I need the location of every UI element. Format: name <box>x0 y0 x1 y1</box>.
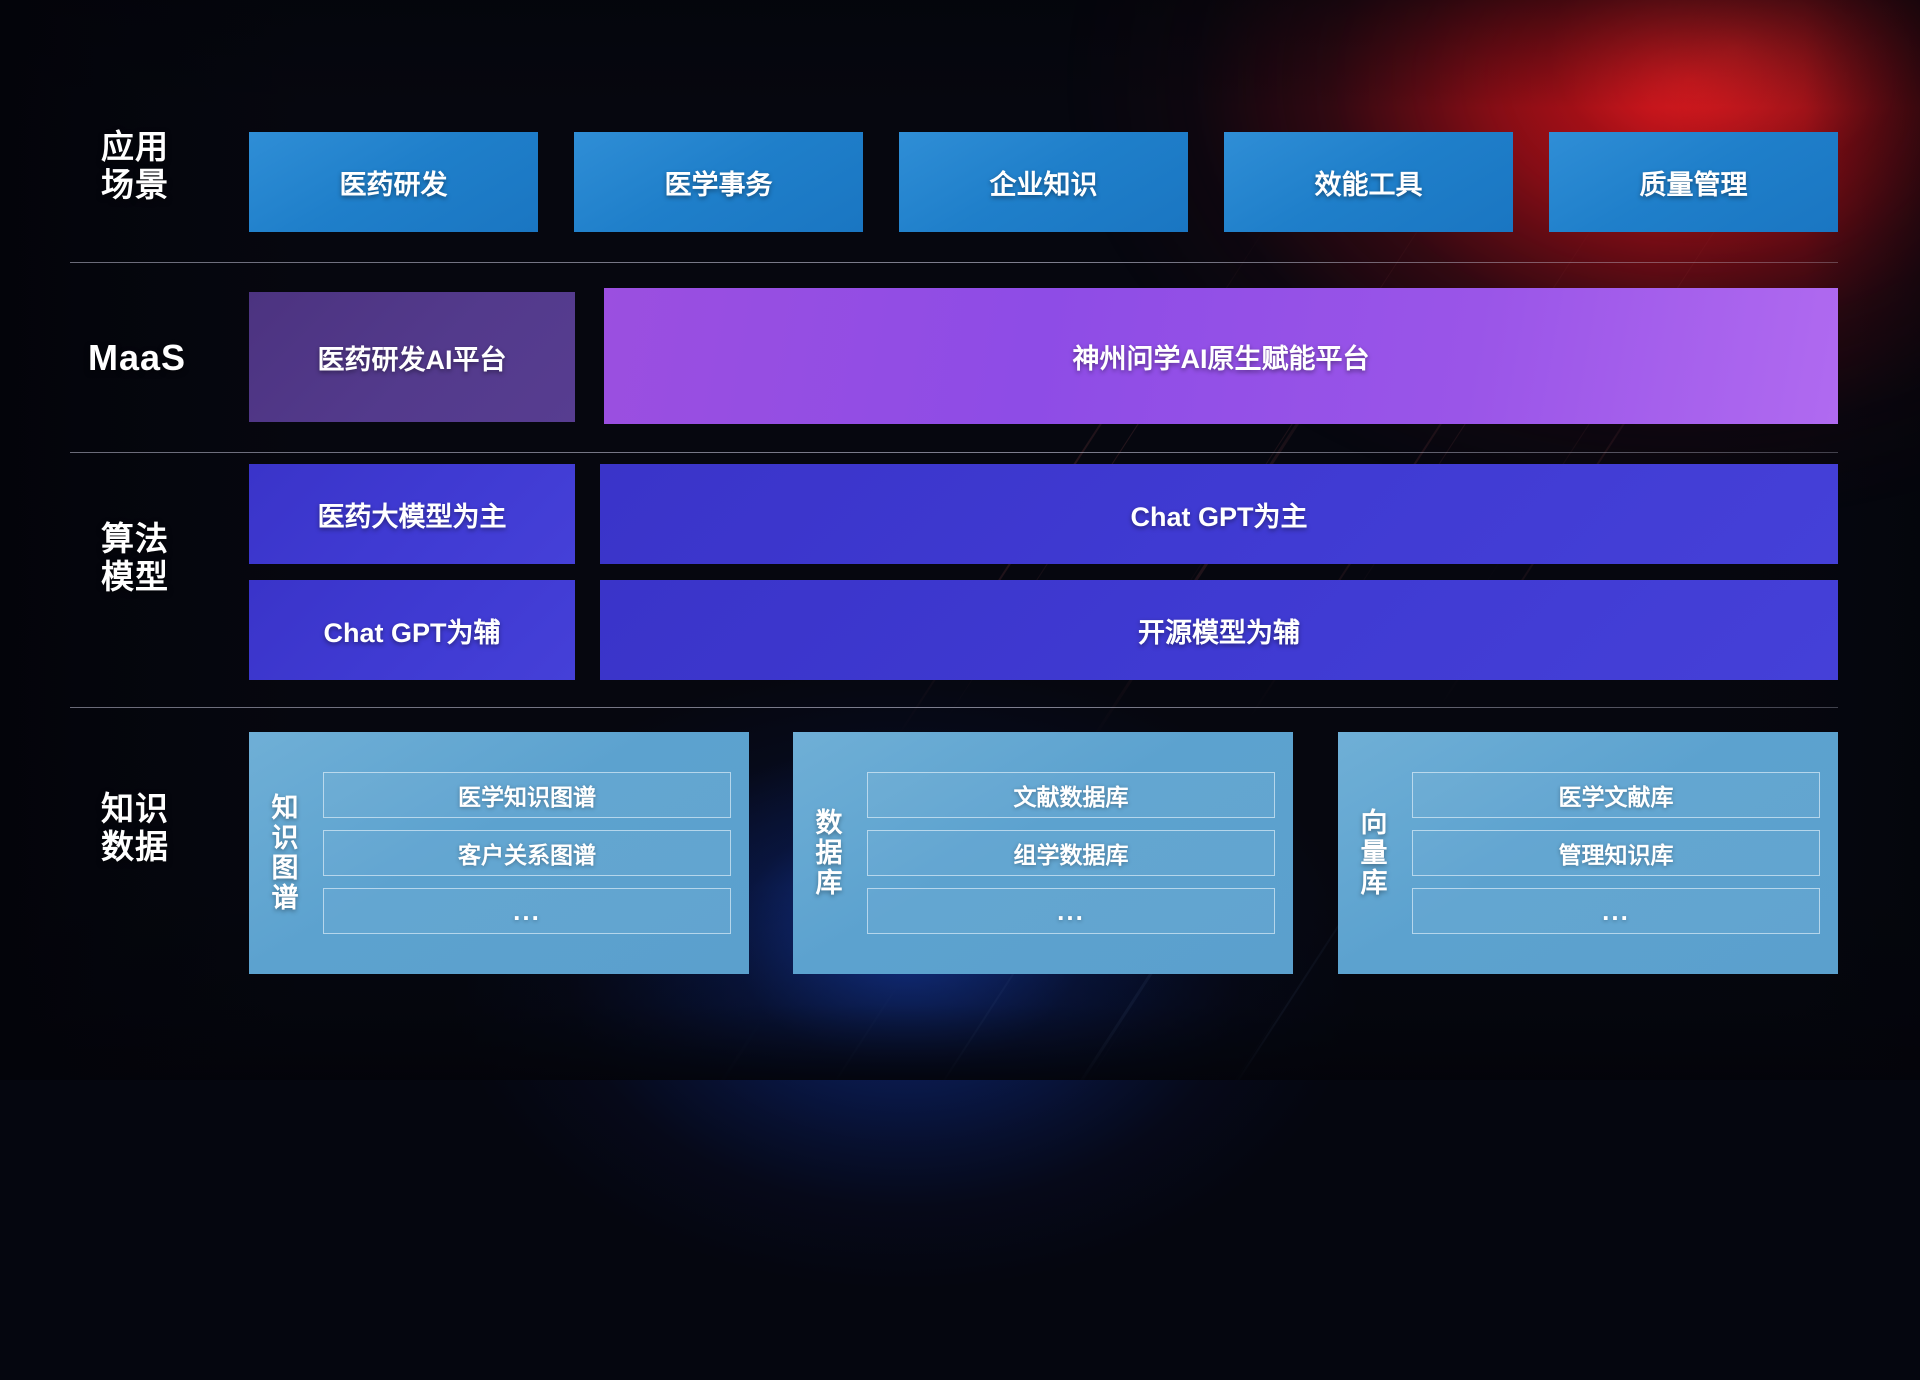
app-scenario-box-5[interactable]: 质量管理 <box>1549 132 1838 232</box>
panel-title-char: 库 <box>1361 868 1388 898</box>
algo-label: Chat GPT为主 <box>1130 495 1307 534</box>
knowledge-item[interactable]: 客户关系图谱 <box>323 830 731 876</box>
knowledge-item[interactable]: 医学知识图谱 <box>323 772 731 818</box>
knowledge-item-more[interactable]: ... <box>1412 888 1820 934</box>
knowledge-panel-title: 数 据 库 <box>793 732 865 974</box>
knowledge-item-label: ... <box>1602 896 1630 927</box>
row-label-application-scenarios: 应用 场景 <box>60 128 210 203</box>
knowledge-panel-title: 向 量 库 <box>1338 732 1410 974</box>
algo-box-right-secondary[interactable]: 开源模型为辅 <box>600 580 1838 680</box>
maas-left-label: 医药研发AI平台 <box>318 338 507 377</box>
app-scenario-label: 效能工具 <box>1315 163 1423 202</box>
divider-2 <box>70 452 1838 453</box>
row-label-maas: MaaS <box>58 337 216 378</box>
row-label-line: 模型 <box>60 558 210 596</box>
row-label-line: 场景 <box>60 166 210 204</box>
knowledge-panel-items: 文献数据库 组学数据库 ... <box>865 732 1293 974</box>
knowledge-item-label: ... <box>1057 896 1085 927</box>
panel-title-char: 图 <box>272 853 299 883</box>
maas-box-shenzhou-platform[interactable]: 神州问学AI原生赋能平台 <box>604 288 1838 424</box>
knowledge-item-more[interactable]: ... <box>867 888 1275 934</box>
app-scenario-label: 医学事务 <box>665 163 773 202</box>
maas-box-medical-ai-platform[interactable]: 医药研发AI平台 <box>249 292 575 422</box>
panel-title-char: 量 <box>1361 838 1388 868</box>
algo-box-left-secondary[interactable]: Chat GPT为辅 <box>249 580 575 680</box>
row-label-line: 数据 <box>60 828 210 866</box>
knowledge-panel-items: 医学知识图谱 客户关系图谱 ... <box>321 732 749 974</box>
app-scenario-box-2[interactable]: 医学事务 <box>574 132 863 232</box>
algo-box-right-primary[interactable]: Chat GPT为主 <box>600 464 1838 564</box>
knowledge-item-label: 组学数据库 <box>1014 836 1129 870</box>
divider-3 <box>70 707 1838 708</box>
app-scenario-label: 企业知识 <box>990 163 1098 202</box>
knowledge-item-label: 管理知识库 <box>1559 836 1674 870</box>
knowledge-item-label: ... <box>513 896 541 927</box>
knowledge-item-label: 客户关系图谱 <box>458 836 596 870</box>
knowledge-item[interactable]: 管理知识库 <box>1412 830 1820 876</box>
maas-right-label: 神州问学AI原生赋能平台 <box>1073 337 1370 376</box>
knowledge-item[interactable]: 文献数据库 <box>867 772 1275 818</box>
divider-1 <box>70 262 1838 263</box>
knowledge-panel-knowledge-graph[interactable]: 知 识 图 谱 医学知识图谱 客户关系图谱 ... <box>249 732 749 974</box>
algo-label: 医药大模型为主 <box>318 495 507 534</box>
knowledge-item-label: 文献数据库 <box>1014 778 1129 812</box>
knowledge-item-label: 医学文献库 <box>1559 778 1674 812</box>
row-label-line: 知识 <box>60 790 210 828</box>
architecture-diagram: 应用 场景 医药研发 医学事务 企业知识 效能工具 质量管理 MaaS 医药研发… <box>0 0 1920 1080</box>
panel-title-char: 向 <box>1361 808 1388 838</box>
knowledge-panel-title: 知 识 图 谱 <box>249 732 321 974</box>
panel-title-char: 知 <box>272 793 299 823</box>
row-label-line: MaaS <box>58 337 216 378</box>
app-scenario-label: 质量管理 <box>1640 163 1748 202</box>
knowledge-item-more[interactable]: ... <box>323 888 731 934</box>
app-scenario-box-4[interactable]: 效能工具 <box>1224 132 1513 232</box>
app-scenario-box-3[interactable]: 企业知识 <box>899 132 1188 232</box>
row-label-knowledge-data: 知识 数据 <box>60 790 210 865</box>
row-label-algorithm-model: 算法 模型 <box>60 520 210 595</box>
knowledge-panel-vector-store[interactable]: 向 量 库 医学文献库 管理知识库 ... <box>1338 732 1838 974</box>
algo-box-left-primary[interactable]: 医药大模型为主 <box>249 464 575 564</box>
app-scenario-box-1[interactable]: 医药研发 <box>249 132 538 232</box>
algo-label: Chat GPT为辅 <box>323 611 500 650</box>
knowledge-item[interactable]: 医学文献库 <box>1412 772 1820 818</box>
row-label-line: 算法 <box>60 520 210 558</box>
knowledge-item-label: 医学知识图谱 <box>458 778 596 812</box>
row-label-line: 应用 <box>60 128 210 166</box>
panel-title-char: 数 <box>816 808 843 838</box>
panel-title-char: 谱 <box>272 883 299 913</box>
panel-title-char: 识 <box>272 823 299 853</box>
algo-label: 开源模型为辅 <box>1138 611 1300 650</box>
knowledge-panel-database[interactable]: 数 据 库 文献数据库 组学数据库 ... <box>793 732 1293 974</box>
knowledge-item[interactable]: 组学数据库 <box>867 830 1275 876</box>
knowledge-panel-items: 医学文献库 管理知识库 ... <box>1410 732 1838 974</box>
app-scenario-label: 医药研发 <box>340 163 448 202</box>
panel-title-char: 库 <box>816 868 843 898</box>
panel-title-char: 据 <box>816 838 843 868</box>
